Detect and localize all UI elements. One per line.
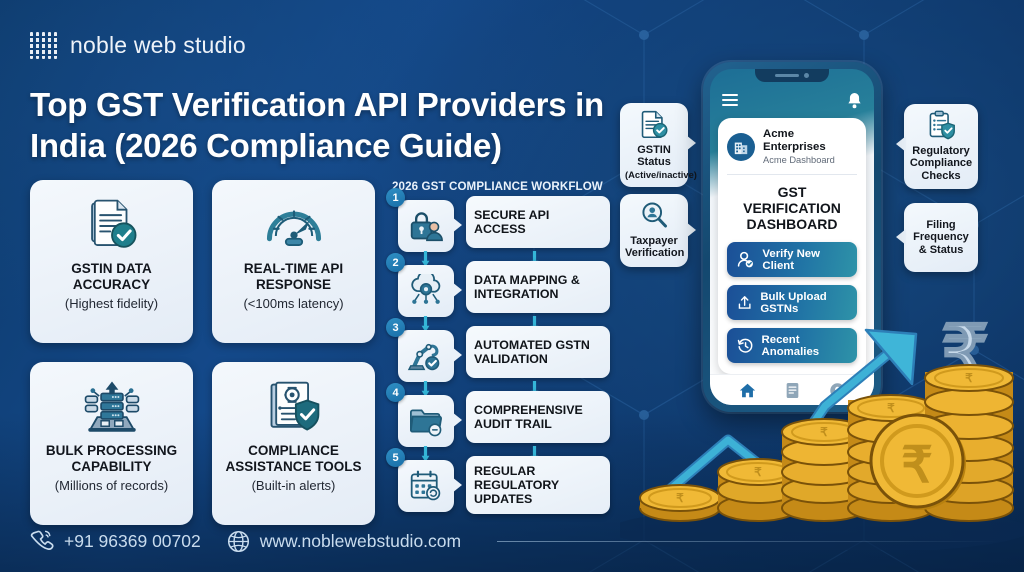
svg-text:₹: ₹ <box>965 371 973 385</box>
workflow-step-4: 4 COMPREHENSIVE AUDIT TRAIL <box>392 391 610 453</box>
footer-website[interactable]: www.noblewebstudio.com <box>227 530 461 553</box>
document-list-icon[interactable] <box>785 382 800 399</box>
settings-disc-icon[interactable] <box>829 382 846 399</box>
feature-title: COMPLIANCE ASSISTANCE TOOLS <box>220 443 367 474</box>
dashboard-card: Acme Enterprises Acme Dashboard GST VERI… <box>718 118 866 374</box>
page-title: Top GST Verification API Providers in In… <box>30 84 630 167</box>
phone-top-bar <box>710 83 874 117</box>
magnifier-user-icon <box>639 200 669 230</box>
document-shield-gear-icon <box>264 375 324 441</box>
step-number: 3 <box>386 318 405 337</box>
feature-card-grid: GSTIN DATA ACCURACY (Highest fidelity) <box>30 180 375 525</box>
workflow-step-1: 1 SECURE API ACCESS <box>392 196 610 258</box>
callout-title: Regulatory Compliance Checks <box>909 145 973 182</box>
svg-text:₹: ₹ <box>820 425 828 439</box>
feature-card-compliance-tools: COMPLIANCE ASSISTANCE TOOLS (Built-in al… <box>212 362 375 525</box>
feature-card-realtime-response: REAL-TIME API RESPONSE (<100ms latency) <box>212 180 375 343</box>
footer-phone[interactable]: +91 96369 00702 <box>30 529 201 553</box>
document-check-icon <box>639 109 669 139</box>
home-icon[interactable] <box>739 382 756 399</box>
step-label: SECURE API ACCESS <box>466 196 610 248</box>
callout-gstin-status: GSTIN Status (Active/inactive) <box>620 103 688 187</box>
svg-text:₹: ₹ <box>676 491 684 505</box>
document-check-icon <box>83 193 141 259</box>
feature-title: REAL-TIME API RESPONSE <box>220 261 367 292</box>
workflow-list: 1 SECURE API ACCESS 2 <box>392 196 610 523</box>
brand-logo: noble web studio <box>30 32 246 59</box>
dashboard-title: GST VERIFICATION DASHBOARD <box>729 185 855 233</box>
calendar-refresh-icon <box>398 460 454 512</box>
phone-screen: Acme Enterprises Acme Dashboard GST VERI… <box>710 69 874 405</box>
step-label: DATA MAPPING & INTEGRATION <box>466 261 610 313</box>
footer-phone-text: +91 96369 00702 <box>64 531 201 552</box>
clipboard-shield-icon <box>926 110 956 140</box>
feature-title: GSTIN DATA ACCURACY <box>38 261 185 292</box>
verify-new-client-button[interactable]: Verify New Client <box>727 242 857 277</box>
phone-bottom-nav <box>710 374 874 405</box>
svg-text:₹: ₹ <box>901 437 933 493</box>
svg-text:₹: ₹ <box>754 465 762 479</box>
clock-history-icon <box>737 336 754 355</box>
footer-website-text: www.noblewebstudio.com <box>260 531 461 552</box>
step-label: COMPREHENSIVE AUDIT TRAIL <box>466 391 610 443</box>
callout-title: GSTIN Status <box>625 144 683 169</box>
striped-grid-logo-icon <box>30 32 57 59</box>
workflow-step-3: 3 AUTOMATED GSTN VALIDATION <box>392 326 610 388</box>
lock-user-icon <box>398 200 454 252</box>
callout-subtitle: (Active/inactive) <box>625 170 683 181</box>
feature-subtitle: (<100ms latency) <box>243 296 343 312</box>
folder-clock-icon <box>398 395 454 447</box>
company-name: Acme Enterprises <box>763 128 857 154</box>
footer-divider <box>497 541 1000 542</box>
user-check-icon <box>737 250 754 269</box>
bulk-upload-gstns-button[interactable]: Bulk Upload GSTNs <box>727 285 857 320</box>
camera-dot <box>804 73 809 78</box>
speaker-bar <box>775 74 799 77</box>
feature-subtitle: (Built-in alerts) <box>252 478 336 494</box>
workflow-step-5: 5 REGULAR REGULATORY UPDATES <box>392 456 610 520</box>
brand-name: noble web studio <box>70 32 246 59</box>
button-label: Recent Anomalies <box>762 334 847 358</box>
phone-notch <box>755 69 829 82</box>
company-subtitle: Acme Dashboard <box>763 155 857 166</box>
step-number: 5 <box>386 448 405 467</box>
workflow-step-2: 2 DATA MAPPING & INTEGRATION <box>392 261 610 323</box>
speedometer-icon <box>264 193 324 259</box>
robot-arm-check-icon <box>398 330 454 382</box>
step-number: 1 <box>386 188 405 207</box>
phone-mockup: Acme Enterprises Acme Dashboard GST VERI… <box>703 62 881 412</box>
globe-icon <box>227 530 250 553</box>
cloud-gear-icon <box>398 265 454 317</box>
rupee-symbol: ₹ <box>941 311 988 394</box>
building-icon <box>727 133 755 161</box>
callout-taxpayer-verification: Taxpayer Verification <box>620 194 688 267</box>
step-number: 4 <box>386 383 405 402</box>
company-header: Acme Enterprises Acme Dashboard <box>727 128 857 175</box>
button-label: Bulk Upload GSTNs <box>760 291 847 315</box>
feature-card-bulk-processing: BULK PROCESSING CAPABILITY (Millions of … <box>30 362 193 525</box>
feature-subtitle: (Millions of records) <box>55 478 168 494</box>
callout-title: Taxpayer Verification <box>625 235 683 260</box>
recent-anomalies-button[interactable]: Recent Anomalies <box>727 328 857 363</box>
step-label: AUTOMATED GSTN VALIDATION <box>466 326 610 378</box>
callout-regulatory-compliance: Regulatory Compliance Checks <box>904 104 978 189</box>
step-label: REGULAR REGULATORY UPDATES <box>466 456 610 514</box>
upload-icon <box>737 293 752 312</box>
callout-filing-frequency: Filing Frequency & Status <box>904 203 978 272</box>
feature-subtitle: (Highest fidelity) <box>65 296 158 312</box>
server-rack-upload-icon <box>81 375 143 441</box>
infographic-root: noble web studio Top GST Verification AP… <box>0 0 1024 572</box>
feature-card-gstin-accuracy: GSTIN DATA ACCURACY (Highest fidelity) <box>30 180 193 343</box>
notification-bell-icon[interactable] <box>847 92 862 109</box>
footer: +91 96369 00702 www.noblewebstudio.com <box>30 524 1000 558</box>
feature-title: BULK PROCESSING CAPABILITY <box>38 443 185 474</box>
phone-ring-icon <box>30 529 54 553</box>
callout-title: Filing Frequency & Status <box>909 219 973 256</box>
hamburger-menu-icon[interactable] <box>722 91 738 110</box>
workflow-title: 2026 GST COMPLIANCE WORKFLOW <box>392 180 607 193</box>
step-number: 2 <box>386 253 405 272</box>
button-label: Verify New Client <box>762 248 847 272</box>
svg-text:₹: ₹ <box>887 401 895 415</box>
